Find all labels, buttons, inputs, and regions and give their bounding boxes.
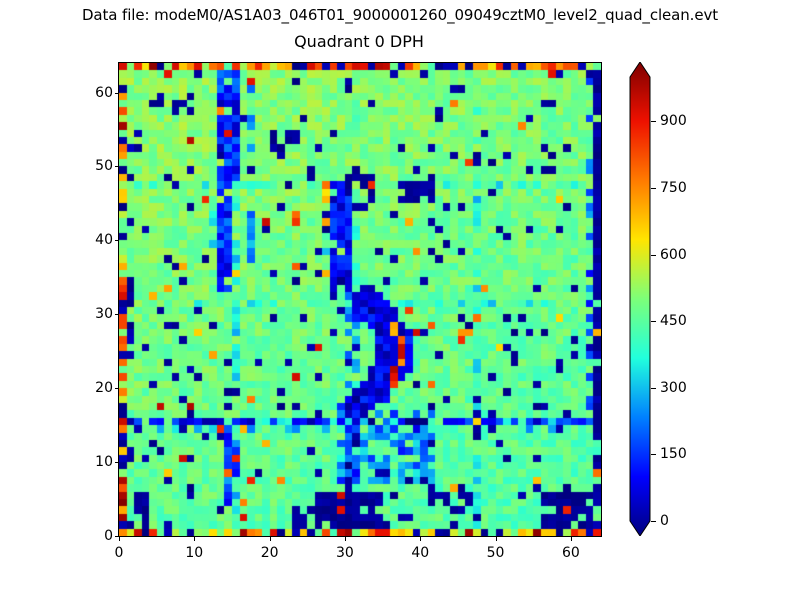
- x-tick-label: 50: [487, 545, 505, 561]
- axes-title: Quadrant 0 DPH: [118, 32, 600, 51]
- x-tick-mark: [571, 537, 572, 541]
- colorbar-tick-mark: [651, 255, 656, 256]
- heatmap-axes[interactable]: 0102030405060 0102030405060: [118, 62, 602, 537]
- x-tick-mark: [345, 537, 346, 541]
- y-tick-label: 30: [95, 306, 113, 322]
- dph-heatmap-image[interactable]: [119, 63, 601, 536]
- colorbar-tick-label: 150: [660, 446, 687, 462]
- colorbar-tick-mark: [651, 188, 656, 189]
- colorbar-tick-label: 450: [660, 313, 687, 329]
- colorbar[interactable]: 0150300450600750900: [629, 62, 651, 536]
- y-tick-label: 0: [104, 528, 113, 544]
- x-tick-label: 40: [411, 545, 429, 561]
- x-tick-mark: [194, 537, 195, 541]
- data-file-suptitle: Data file: modeM0/AS1A03_046T01_90000012…: [0, 6, 800, 24]
- colorbar-tick-label: 600: [660, 247, 687, 263]
- colorbar-tick-mark: [651, 321, 656, 322]
- y-tick-mark: [115, 536, 119, 537]
- colorbar-gradient-bar: [629, 62, 651, 536]
- colorbar-tick-mark: [651, 121, 656, 122]
- colorbar-tick-label: 900: [660, 113, 687, 129]
- y-tick-mark: [115, 462, 119, 463]
- y-tick-label: 20: [95, 380, 113, 396]
- y-tick-mark: [115, 93, 119, 94]
- figure-canvas: Data file: modeM0/AS1A03_046T01_90000012…: [0, 0, 800, 600]
- x-tick-label: 0: [115, 545, 124, 561]
- x-tick-label: 60: [562, 545, 580, 561]
- x-tick-label: 10: [185, 545, 203, 561]
- x-tick-mark: [420, 537, 421, 541]
- colorbar-tick-label: 300: [660, 380, 687, 396]
- y-tick-label: 10: [95, 454, 113, 470]
- colorbar-tick-mark: [651, 388, 656, 389]
- colorbar-tick-mark: [651, 521, 656, 522]
- colorbar-tick-label: 750: [660, 180, 687, 196]
- x-tick-mark: [270, 537, 271, 541]
- x-tick-label: 20: [261, 545, 279, 561]
- colorbar-tick-mark: [651, 454, 656, 455]
- y-tick-mark: [115, 388, 119, 389]
- y-tick-label: 60: [95, 85, 113, 101]
- y-tick-mark: [115, 166, 119, 167]
- x-tick-mark: [496, 537, 497, 541]
- y-tick-mark: [115, 240, 119, 241]
- y-tick-mark: [115, 314, 119, 315]
- colorbar-tick-label: 0: [660, 513, 669, 529]
- x-tick-mark: [119, 537, 120, 541]
- x-tick-label: 30: [336, 545, 354, 561]
- y-tick-label: 40: [95, 232, 113, 248]
- y-tick-label: 50: [95, 158, 113, 174]
